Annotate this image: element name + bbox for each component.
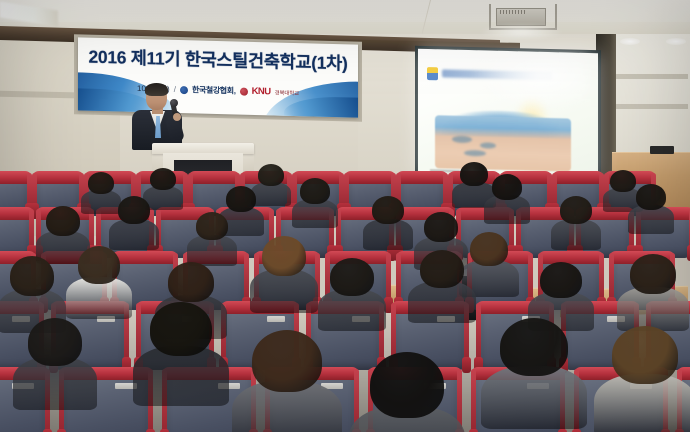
audience-head [470, 232, 508, 266]
audience-head [226, 186, 256, 212]
seat-rim [396, 171, 448, 184]
seat-rim [344, 171, 396, 184]
projection-screen [418, 49, 598, 182]
audience-member [10, 256, 54, 296]
audience-member [424, 212, 458, 242]
microphone-head-icon [170, 99, 178, 107]
audience-member [300, 178, 330, 204]
audience-member [630, 254, 676, 294]
audience-member [262, 236, 306, 276]
audience-head [252, 330, 322, 392]
audience-member [540, 262, 582, 298]
seat-rim [32, 171, 84, 184]
seat-side-left [471, 369, 476, 432]
slide-detail-b [480, 142, 496, 148]
slide-detail-a [452, 136, 472, 143]
audience-member [370, 352, 444, 418]
audience-head [88, 172, 114, 194]
projector-vent [500, 10, 526, 14]
event-banner: 2016 제11기 한국스틸건축학교(1차) 10.25(화) / 한국철강협회… [78, 37, 358, 117]
audience-head [46, 206, 80, 236]
audience-member [78, 246, 120, 284]
audience-member [610, 170, 636, 192]
audience-head [612, 326, 678, 384]
audience-member [226, 186, 256, 212]
presenter-hair [145, 83, 168, 96]
lecture-hall-photo: 2016 제11기 한국스틸건축학교(1차) 10.25(화) / 한국철강협회… [0, 0, 690, 432]
audience-head [636, 184, 666, 210]
seat-rim [552, 171, 604, 184]
slide-image [435, 115, 571, 171]
audience-member [150, 302, 212, 356]
audience-head [118, 196, 150, 224]
audience-head [330, 258, 374, 296]
ceiling-spotlight-right-a [620, 38, 640, 45]
slide-logo-icon [427, 67, 438, 80]
audience-head [262, 236, 306, 276]
audience-head [258, 164, 284, 186]
audience-head [150, 168, 176, 190]
audience-head [460, 162, 488, 186]
audience-head [28, 318, 82, 366]
audience-member [118, 196, 150, 224]
audience-member [258, 164, 284, 186]
banner-separator: / [174, 85, 176, 94]
audience-head [424, 212, 458, 242]
audience-member [168, 262, 214, 302]
banner-org-secondary: 경북대학교 [275, 88, 299, 97]
audience-member [470, 232, 508, 266]
audience-member [252, 330, 322, 392]
audience-head [370, 352, 444, 418]
presenter-hand [173, 113, 181, 121]
right-wall-stripe [616, 74, 688, 79]
audience-member [196, 212, 228, 240]
audience-member [46, 206, 80, 236]
audience-member [420, 250, 464, 288]
audience-member [372, 196, 404, 224]
right-wall-stripe-2 [616, 104, 688, 109]
audience-head [630, 254, 676, 294]
audience-member [492, 174, 522, 200]
audience-head [540, 262, 582, 298]
seat-number-plate [267, 316, 285, 322]
audience-head [560, 196, 592, 224]
ksa-logo-icon [180, 86, 188, 94]
audience-head [610, 170, 636, 192]
banner-title: 2016 제11기 한국스틸건축학교(1차) [78, 43, 358, 75]
ceiling-spotlight-right-b [666, 38, 686, 45]
audience-member [560, 196, 592, 224]
seat-arm-right [462, 357, 471, 373]
banner-knu-mark: KNU [252, 86, 271, 97]
audience-member [612, 326, 678, 384]
audience-member [500, 318, 568, 376]
audience-head [372, 196, 404, 224]
audience-head [10, 256, 54, 296]
audience-member [150, 168, 176, 190]
slide-title-text-blur [442, 69, 552, 80]
audience-member [330, 258, 374, 296]
seat-rim [188, 171, 240, 184]
audience-head [168, 262, 214, 302]
audience-member [88, 172, 114, 194]
audience-member [636, 184, 666, 210]
audience-head [420, 250, 464, 288]
audience-head [492, 174, 522, 200]
audience-head [500, 318, 568, 376]
projector-lamp-glow [478, 24, 564, 40]
audience-head [150, 302, 212, 356]
knu-logo-icon [240, 87, 248, 95]
audience-head [78, 246, 120, 284]
audience-member [460, 162, 488, 186]
audience-head [196, 212, 228, 240]
booth-equipment [650, 146, 674, 154]
banner-org-primary: 한국철강협회, [192, 84, 236, 96]
audience-head [300, 178, 330, 204]
audience-member [28, 318, 82, 366]
